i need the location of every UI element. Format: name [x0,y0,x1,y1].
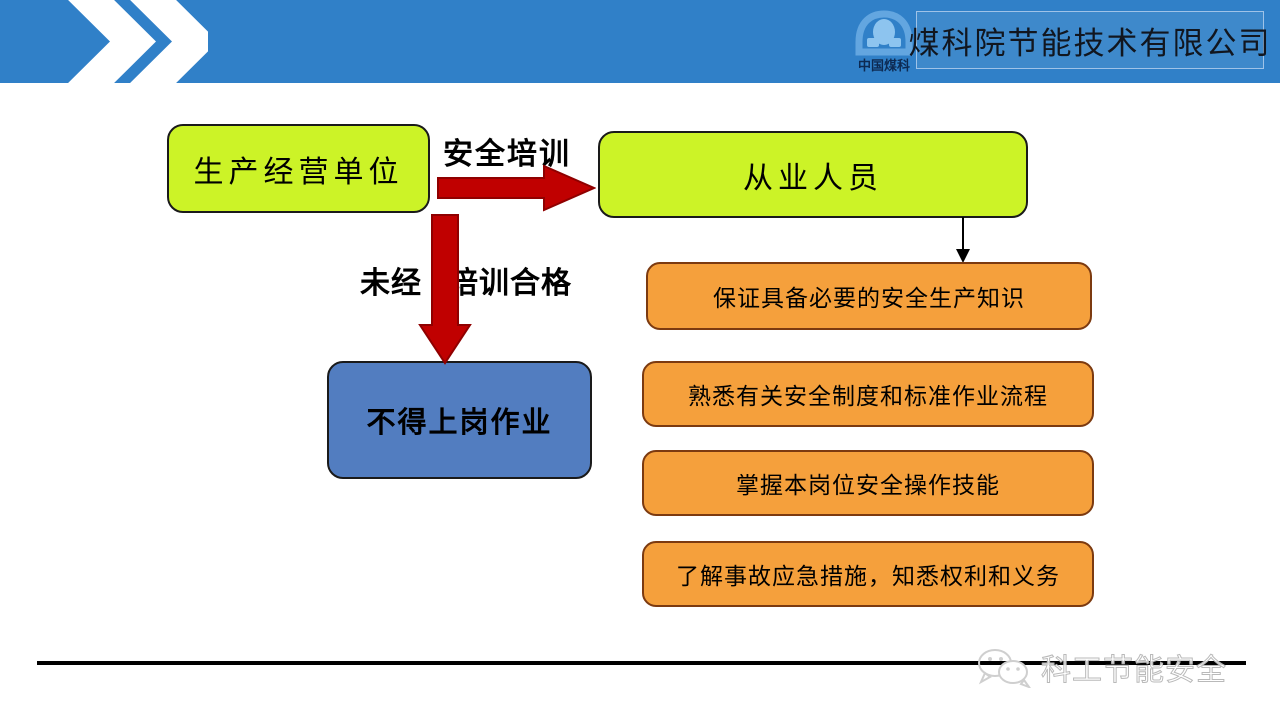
footer-watermark: 科工节能安全 [975,641,1275,693]
requirement-box-2-label: 熟悉有关安全制度和标准作业流程 [688,377,1048,411]
node-employees-label: 从业人员 [743,153,883,197]
arrow-right-red [436,164,596,212]
node-employees[interactable]: 从业人员 [598,131,1028,218]
requirement-box-3-label: 掌握本岗位安全操作技能 [736,466,1000,500]
arrow-down-black [948,217,978,265]
node-source-unit-label: 生产经营单位 [194,147,404,191]
node-source-unit[interactable]: 生产经营单位 [167,124,430,213]
watermark-text: 科工节能安全 [1041,645,1227,689]
requirement-box-2[interactable]: 熟悉有关安全制度和标准作业流程 [642,361,1094,427]
requirement-box-1[interactable]: 保证具备必要的安全生产知识 [646,262,1092,330]
requirement-box-4[interactable]: 了解事故应急措施，知悉权利和义务 [642,541,1094,607]
requirement-box-1-label: 保证具备必要的安全生产知识 [713,279,1025,313]
chevron-decoration [48,0,208,83]
page-header: 中国煤科 煤科院节能技术有限公司 [0,0,1280,83]
node-no-work-allowed[interactable]: 不得上岗作业 [327,361,592,479]
company-name-box[interactable]: 煤科院节能技术有限公司 [916,11,1264,69]
requirement-box-3[interactable]: 掌握本岗位安全操作技能 [642,450,1094,516]
arrow-down-red [415,213,475,365]
company-name-text: 煤科院节能技术有限公司 [909,18,1272,63]
double-chevron-icon [48,0,208,83]
node-no-work-allowed-label: 不得上岗作业 [366,399,552,441]
logo-caption: 中国煤科 [858,58,910,74]
edge-label-unqualified: 未经 [360,258,422,302]
wechat-icon [975,646,1033,688]
requirement-box-4-label: 了解事故应急措施，知悉权利和义务 [676,557,1060,591]
slide-canvas: 生产经营单位 从业人员 不得上岗作业 安全培训 未经 培训合格 保证具备必要的安… [0,83,1280,720]
